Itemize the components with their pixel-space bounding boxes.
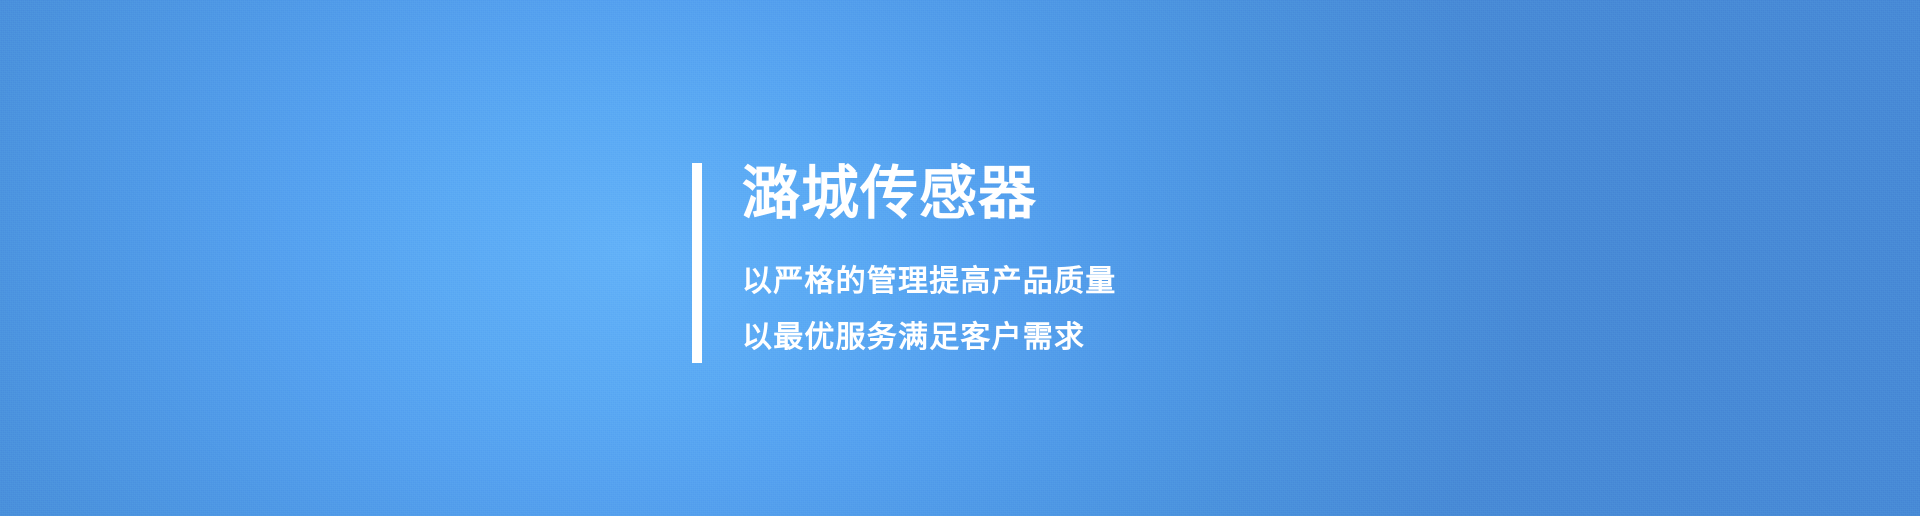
banner-headline: 潞城传感器 — [742, 163, 1116, 225]
hero-banner: 潞城传感器 以严格的管理提高产品质量 以最优服务满足客户需求 — [0, 0, 1920, 516]
banner-text-block: 潞城传感器 以严格的管理提高产品质量 以最优服务满足客户需求 — [742, 163, 1116, 366]
banner-tagline-1: 以严格的管理提高产品质量 — [742, 254, 1116, 310]
banner-tagline-list: 以严格的管理提高产品质量 以最优服务满足客户需求 — [742, 254, 1116, 366]
vertical-accent-bar-icon — [692, 163, 702, 363]
banner-content: 潞城传感器 以严格的管理提高产品质量 以最优服务满足客户需求 — [692, 163, 1116, 366]
banner-tagline-2: 以最优服务满足客户需求 — [742, 310, 1116, 366]
